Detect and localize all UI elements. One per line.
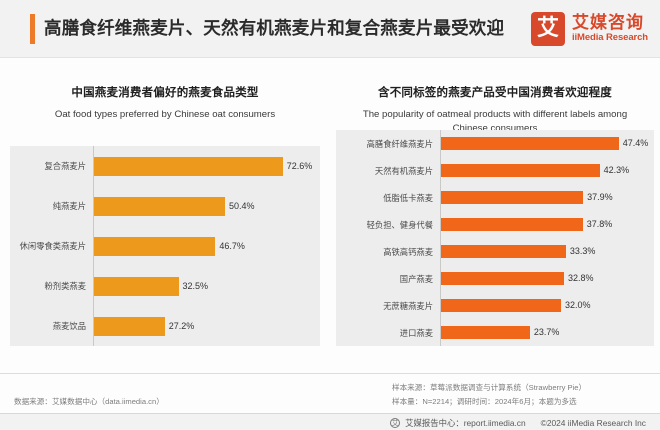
footer-source-left: 数据来源：艾媒数据中心（data.iimedia.cn） [14,396,164,407]
bottom-bar-content: 艾 艾媒报告中心：report.iimedia.cn ©2024 iiMedia… [390,417,646,429]
y-axis-line [440,130,441,346]
copyright-text: ©2024 iiMedia Research Inc [541,418,646,428]
bar-category-label: 休闲零食类燕麦片 [20,242,86,250]
title-accent-bar [30,14,35,44]
chart-right-plot: 高膳食纤维燕麦片47.4%天然有机燕麦片42.3%低脂低卡燕麦37.9%轻负担、… [330,130,660,356]
chart-panel-right: 含不同标签的燕麦产品受中国消费者欢迎程度 The popularity of o… [330,58,660,373]
bar [441,326,530,339]
bar-value-label: 50.4% [229,202,255,211]
logo-mark-icon: 艾 [531,12,565,46]
page-title: 高膳食纤维燕麦片、天然有机燕麦片和复合燕麦片最受欢迎 [44,15,504,40]
bar-value-label: 46.7% [219,242,245,251]
logo-text: 艾媒咨询 iiMedia Research [572,14,648,44]
header-bar: 高膳食纤维燕麦片、天然有机燕麦片和复合燕麦片最受欢迎 艾 艾媒咨询 iiMedi… [0,0,660,58]
bottom-bar: 艾 艾媒报告中心：report.iimedia.cn ©2024 iiMedia… [0,413,660,430]
bar-value-label: 32.0% [565,301,591,310]
bar-value-label: 27.2% [169,322,195,331]
bar-value-label: 33.3% [570,247,596,256]
bar-category-label: 粉剂类燕麦 [45,282,87,290]
plot-background [336,130,654,346]
chart-left-subtitle: Oat food types preferred by Chinese oat … [0,108,330,122]
chart-right-title: 含不同标签的燕麦产品受中国消费者欢迎程度 [330,84,660,100]
bar [94,317,165,336]
chart-left-title: 中国燕麦消费者偏好的燕麦食品类型 [0,84,330,100]
bar [94,197,225,216]
bar-value-label: 32.8% [568,274,594,283]
bar-category-label: 高膳食纤维燕麦片 [367,140,433,148]
logo-name-en: iiMedia Research [572,32,648,44]
footer-sample-size: 样本量：N=2214；调研时间：2024年6月；本题为多选 [392,396,577,407]
bar-category-label: 复合燕麦片 [45,162,87,170]
bar-value-label: 23.7% [534,328,560,337]
bar-category-label: 燕麦饮品 [53,322,86,330]
bar [441,164,600,177]
bar [94,277,179,296]
bar-category-label: 进口燕麦 [400,329,433,337]
bar-category-label: 高铁高钙燕麦 [383,248,433,256]
footer: 数据来源：艾媒数据中心（data.iimedia.cn） 样本来源：草莓派数据调… [0,373,660,413]
bar [94,157,283,176]
bar-value-label: 37.8% [587,220,613,229]
bar-value-label: 37.9% [587,193,613,202]
bar-category-label: 轻负担、健身代餐 [367,221,433,229]
infographic-page: 高膳食纤维燕麦片、天然有机燕麦片和复合燕麦片最受欢迎 艾 艾媒咨询 iiMedi… [0,0,660,430]
bar [441,299,561,312]
bar [441,272,564,285]
footer-sample-source: 样本来源：草莓派数据调查与计算系统（Strawberry Pie） [392,382,586,393]
bar [441,218,583,231]
report-center-link[interactable]: 艾媒报告中心：report.iimedia.cn [405,417,526,429]
globe-icon: 艾 [390,418,400,428]
bar-value-label: 42.3% [604,166,630,175]
chart-left-plot: 复合燕麦片72.6%纯燕麦片50.4%休闲零食类燕麦片46.7%粉剂类燕麦32.… [0,146,330,356]
bar [441,245,566,258]
bar [441,191,583,204]
bar-value-label: 47.4% [623,139,649,148]
bar-category-label: 国产燕麦 [400,275,433,283]
bar-category-label: 低脂低卡燕麦 [383,194,433,202]
bar-category-label: 天然有机燕麦片 [375,167,433,175]
bar-category-label: 无蔗糖燕麦片 [383,302,433,310]
bar [441,137,619,150]
bar-value-label: 72.6% [287,162,313,171]
chart-panel-left: 中国燕麦消费者偏好的燕麦食品类型 Oat food types preferre… [0,58,330,373]
bar-value-label: 32.5% [183,282,209,291]
logo-name-cn: 艾媒咨询 [572,14,648,32]
bar-category-label: 纯燕麦片 [53,202,86,210]
brand-logo: 艾 艾媒咨询 iiMedia Research [531,11,648,47]
bar [94,237,215,256]
